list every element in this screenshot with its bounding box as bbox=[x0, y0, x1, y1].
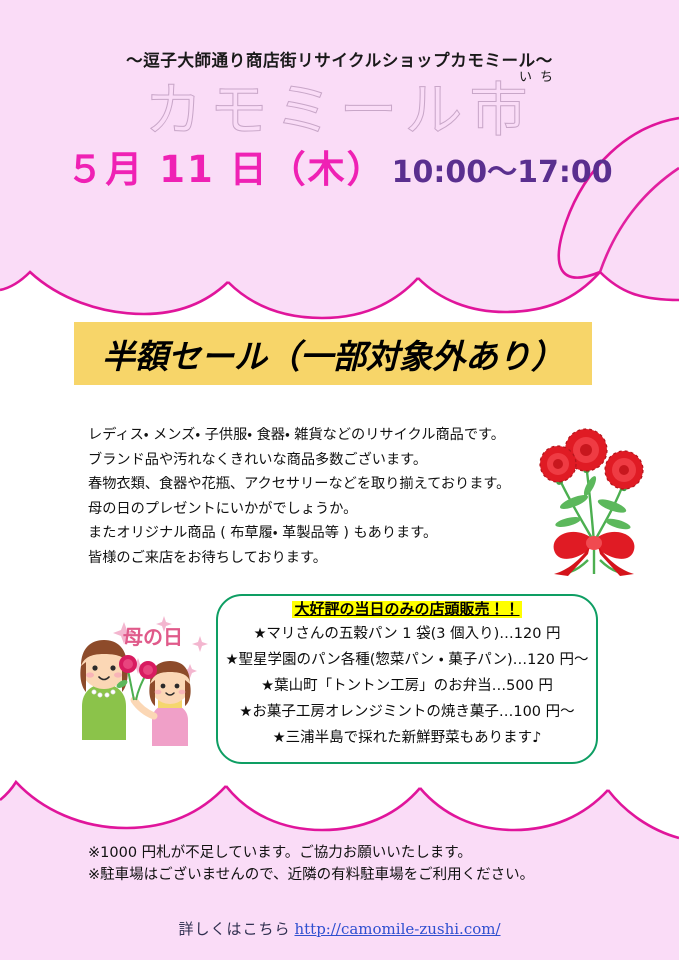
flyer-page: 〜逗子大師通り商店街リサイクルショップカモミール〜 カモミール市 いち ５月 1… bbox=[0, 0, 679, 960]
website-link[interactable]: http://camomile-zushi.com/ bbox=[294, 920, 500, 938]
mother-figure bbox=[80, 640, 127, 740]
half-price-banner: 半額セール（一部対象外あり） bbox=[74, 322, 592, 385]
description-line: またオリジナル商品 ( 布草履・ 革製品等 ) もあります。 bbox=[88, 521, 518, 546]
event-time: 10:00〜17:00 bbox=[392, 155, 613, 190]
mothers-day-caption: 母の日 bbox=[123, 625, 183, 649]
notice-line: ※1000 円札が不足しています。ご協力お願いいたします。 bbox=[88, 842, 588, 864]
shop-name-line: 〜逗子大師通り商店街リサイクルショップカモミール〜 bbox=[0, 52, 679, 70]
description-block: レディス・ メンズ・ 子供服・ 食器・ 雑貨などのリサイクル商品です。 ブランド… bbox=[88, 423, 518, 570]
half-price-banner-text: 半額セール（一部対象外あり） bbox=[102, 330, 564, 378]
description-line: レディス・ メンズ・ 子供服・ 食器・ 雑貨などのリサイクル商品です。 bbox=[88, 423, 518, 448]
description-line: ブランド品や汚れなくきれいな商品多数ございます。 bbox=[88, 448, 518, 473]
page-title: カモミール市 bbox=[0, 76, 679, 144]
description-line: 皆様のご来店をお待ちしております。 bbox=[88, 546, 518, 571]
sale-items-box: 大好評の当日のみの店頭販売！！ ★マリさんの五穀パン 1 袋(3 個入り)…12… bbox=[216, 594, 598, 764]
sale-item: ★葉山町「トントン工房」のお弁当…500 円 bbox=[218, 673, 596, 699]
event-datetime: ５月 11 日（木）10:00〜17:00 bbox=[0, 150, 679, 191]
sale-item: ★聖星学園のパン各種(惣菜パン ・ 菓子パン)…120 円〜 bbox=[218, 647, 596, 673]
description-line: 母の日のプレゼントにいかがでしょうか。 bbox=[88, 497, 518, 522]
notices-block: ※1000 円札が不足しています。ご協力お願いいたします。 ※駐車場はございませ… bbox=[88, 842, 588, 886]
header-block: 〜逗子大師通り商店街リサイクルショップカモミール〜 カモミール市 いち ５月 1… bbox=[0, 52, 679, 191]
sale-box-heading: 大好評の当日のみの店頭販売！！ bbox=[292, 601, 521, 618]
sale-box-heading-wrap: 大好評の当日のみの店頭販売！！ bbox=[218, 601, 596, 618]
page-title-wrap: カモミール市 いち bbox=[0, 76, 679, 144]
bottom-scallop-arcs bbox=[0, 782, 679, 838]
description-line: 春物衣類、食器や花瓶、アクセサリーなどを取り揃えております。 bbox=[88, 472, 518, 497]
title-furigana: いち bbox=[519, 66, 561, 85]
sale-item: ★お菓子工房オレンジミントの焼き菓子…100 円〜 bbox=[218, 699, 596, 725]
url-label: 詳しくはこちら bbox=[178, 920, 290, 938]
sale-item: ★マリさんの五穀パン 1 袋(3 個入り)…120 円 bbox=[218, 621, 596, 647]
event-date: ５月 11 日（木） bbox=[66, 148, 385, 191]
footer-url-line: 詳しくはこちらhttp://camomile-zushi.com/ bbox=[0, 918, 679, 939]
mothers-day-illustration: 母の日 bbox=[78, 600, 228, 760]
notice-line: ※駐車場はございませんので、近隣の有料駐車場をご利用ください。 bbox=[88, 864, 588, 886]
sale-item: ★三浦半島で採れた新鮮野菜もあります♪ bbox=[218, 725, 596, 751]
carnation-bouquet-icon bbox=[528, 424, 660, 576]
